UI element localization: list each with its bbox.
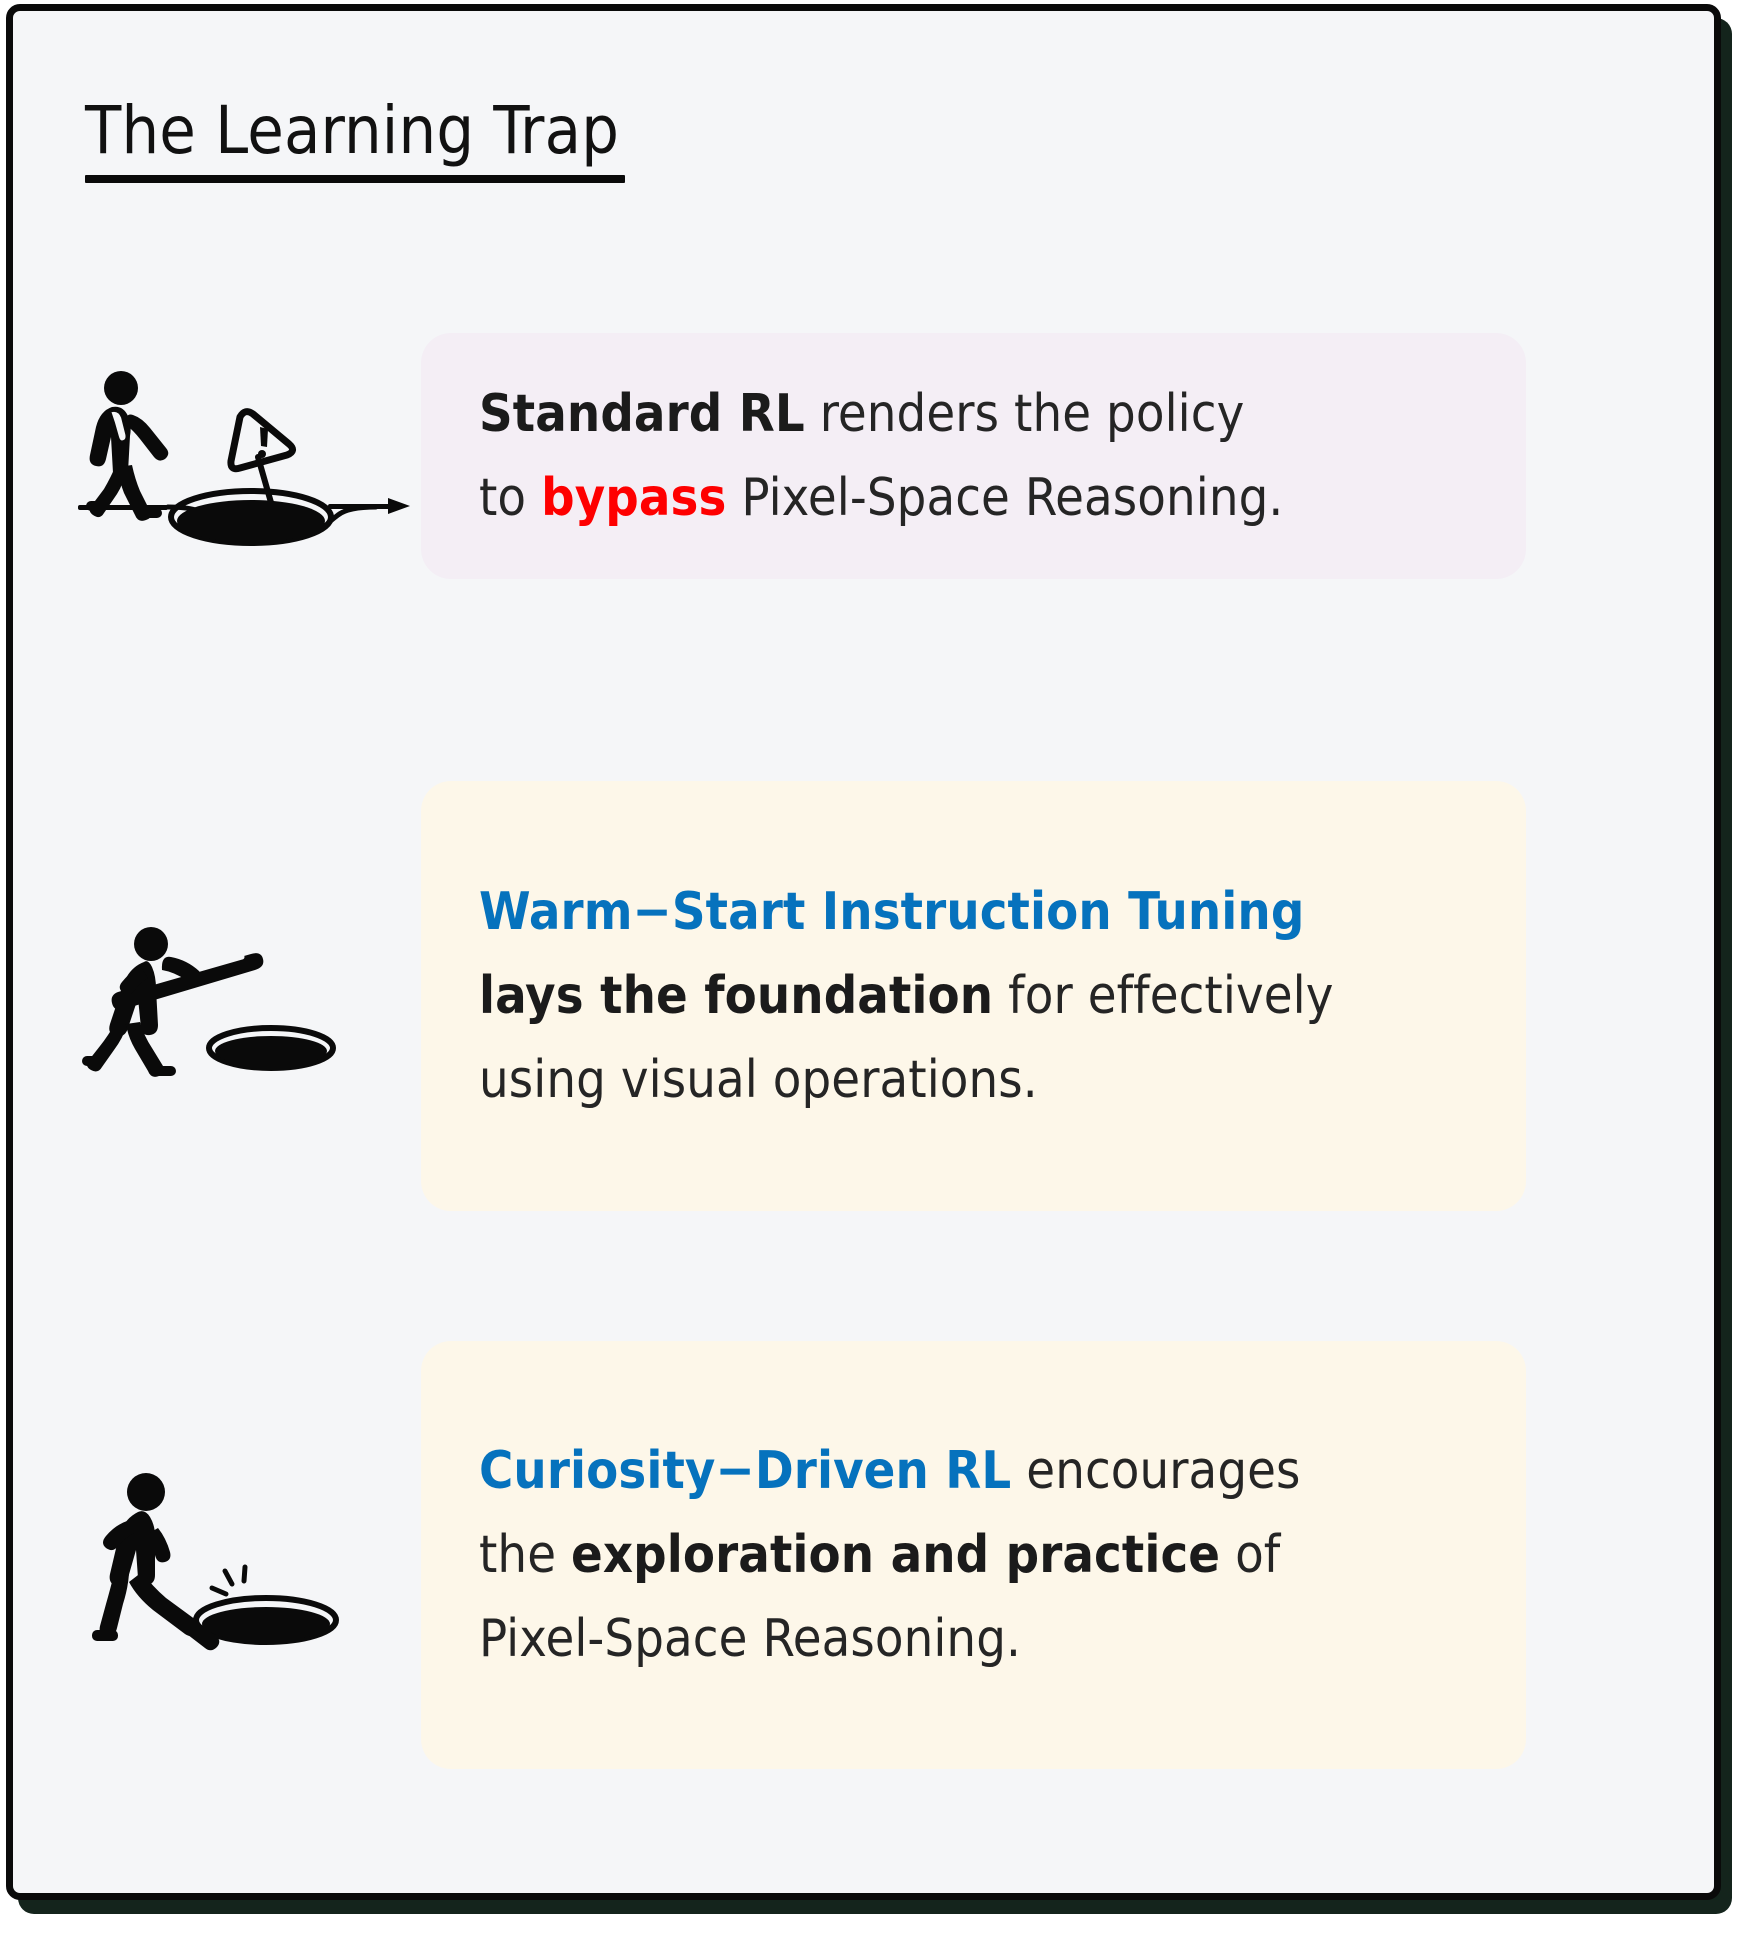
segment-to: to xyxy=(479,468,541,528)
icon-slot-1 xyxy=(71,361,421,551)
segment-using-visual-operations: using visual operations. xyxy=(479,1050,1038,1110)
segment-bypass-highlight: bypass xyxy=(541,468,726,528)
segment-pixel-space-reasoning: Pixel-Space Reasoning. xyxy=(726,468,1283,528)
list-item-warm-start: Warm−Start Instruction Tuning lays the f… xyxy=(71,781,1671,1211)
segment-lays-foundation: lays the foundation xyxy=(479,966,993,1026)
segment-of: of xyxy=(1220,1525,1280,1585)
segment-renders-policy: renders the policy xyxy=(805,384,1245,444)
page-title-block: The Learning Trap xyxy=(85,97,625,183)
segment-for-effectively: for effectively xyxy=(993,966,1333,1026)
segment-exploration-and-practice: exploration and practice xyxy=(571,1525,1220,1585)
segment-pixel-space-reasoning-3: Pixel-Space Reasoning. xyxy=(479,1609,1021,1669)
segment-the: the xyxy=(479,1525,571,1585)
icon-slot-2 xyxy=(71,896,421,1096)
card-text-standard-rl: Standard RL renders the policy to bypass… xyxy=(479,372,1283,540)
segment-warm-start-heading: Warm−Start Instruction Tuning xyxy=(479,882,1304,942)
card-text-curiosity-driven: Curiosity−Driven RL encourages the explo… xyxy=(479,1429,1301,1682)
text-card-curiosity-driven: Curiosity−Driven RL encourages the explo… xyxy=(421,1341,1526,1769)
text-card-standard-rl: Standard RL renders the policy to bypass… xyxy=(421,333,1526,579)
text-card-warm-start: Warm−Start Instruction Tuning lays the f… xyxy=(421,781,1526,1211)
segment-standard-rl-label: Standard RL xyxy=(479,384,805,444)
title-underline xyxy=(85,175,625,183)
list-item-curiosity-driven: Curiosity−Driven RL encourages the explo… xyxy=(71,1341,1671,1769)
person-stepping-over-hole-icon xyxy=(76,1450,416,1660)
list-item-standard-rl: Standard RL renders the policy to bypass… xyxy=(71,333,1671,579)
card-text-warm-start: Warm−Start Instruction Tuning lays the f… xyxy=(479,870,1334,1123)
page-title: The Learning Trap xyxy=(85,97,625,166)
segment-encourages: encourages xyxy=(1011,1441,1300,1501)
figure-container: The Learning Trap xyxy=(0,0,1755,1938)
person-walking-into-hole-with-warning-sign-icon xyxy=(76,361,416,551)
icon-slot-3 xyxy=(71,1450,421,1660)
person-with-plank-bridging-hole-icon xyxy=(76,896,416,1096)
segment-curiosity-driven-rl-heading: Curiosity−Driven RL xyxy=(479,1441,1011,1501)
learning-trap-panel: The Learning Trap xyxy=(6,4,1721,1900)
